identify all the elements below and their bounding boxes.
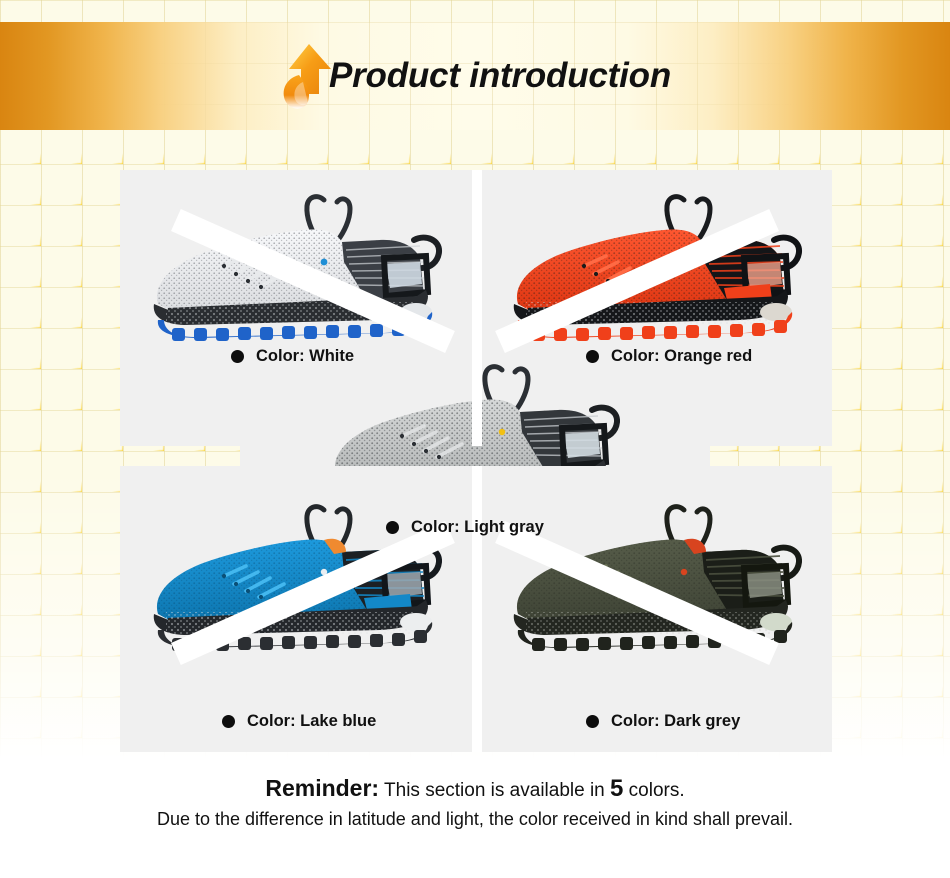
panel-gap-top	[472, 170, 482, 446]
product-introduction-page: Product introduction	[0, 0, 950, 878]
color-label-text: Color: Light gray	[411, 518, 544, 537]
color-label-lake-blue: Color: Lake blue	[222, 712, 376, 731]
reminder-line-1: Reminder: This section is available in 5…	[0, 774, 950, 805]
color-label-dark-grey: Color: Dark grey	[586, 712, 740, 731]
color-label-text: Color: White	[256, 347, 354, 366]
reminder-block: Reminder: This section is available in 5…	[0, 774, 950, 833]
bullet-dot-icon	[386, 521, 399, 534]
color-label-text: Color: Dark grey	[611, 712, 740, 731]
shoe-image-orange-red	[488, 192, 824, 352]
reminder-strong-label: Reminder:	[265, 775, 379, 801]
page-title: Product introduction	[329, 56, 671, 96]
bullet-dot-icon	[222, 715, 235, 728]
color-label-text: Color: Orange red	[611, 347, 752, 366]
shoe-image-white	[128, 192, 464, 352]
color-label-white: Color: White	[231, 347, 354, 366]
color-label-text: Color: Lake blue	[247, 712, 376, 731]
color-label-light-gray: Color: Light gray	[386, 518, 544, 537]
bullet-dot-icon	[586, 350, 599, 363]
bullet-dot-icon	[231, 350, 244, 363]
product-card-dark-grey[interactable]	[482, 466, 832, 752]
header-title-row: Product introduction	[0, 22, 950, 130]
color-label-orange-red: Color: Orange red	[586, 347, 752, 366]
orange-up-arrow-icon	[279, 42, 333, 114]
reminder-text-after-count: colors.	[629, 780, 685, 801]
reminder-line-2: Due to the difference in latitude and li…	[0, 805, 950, 833]
product-card-lake-blue[interactable]	[120, 466, 472, 752]
panel-gap-bottom	[472, 466, 482, 752]
reminder-color-count: 5	[610, 775, 623, 802]
bullet-dot-icon	[586, 715, 599, 728]
reminder-text-before-count: This section is available in	[384, 780, 605, 801]
